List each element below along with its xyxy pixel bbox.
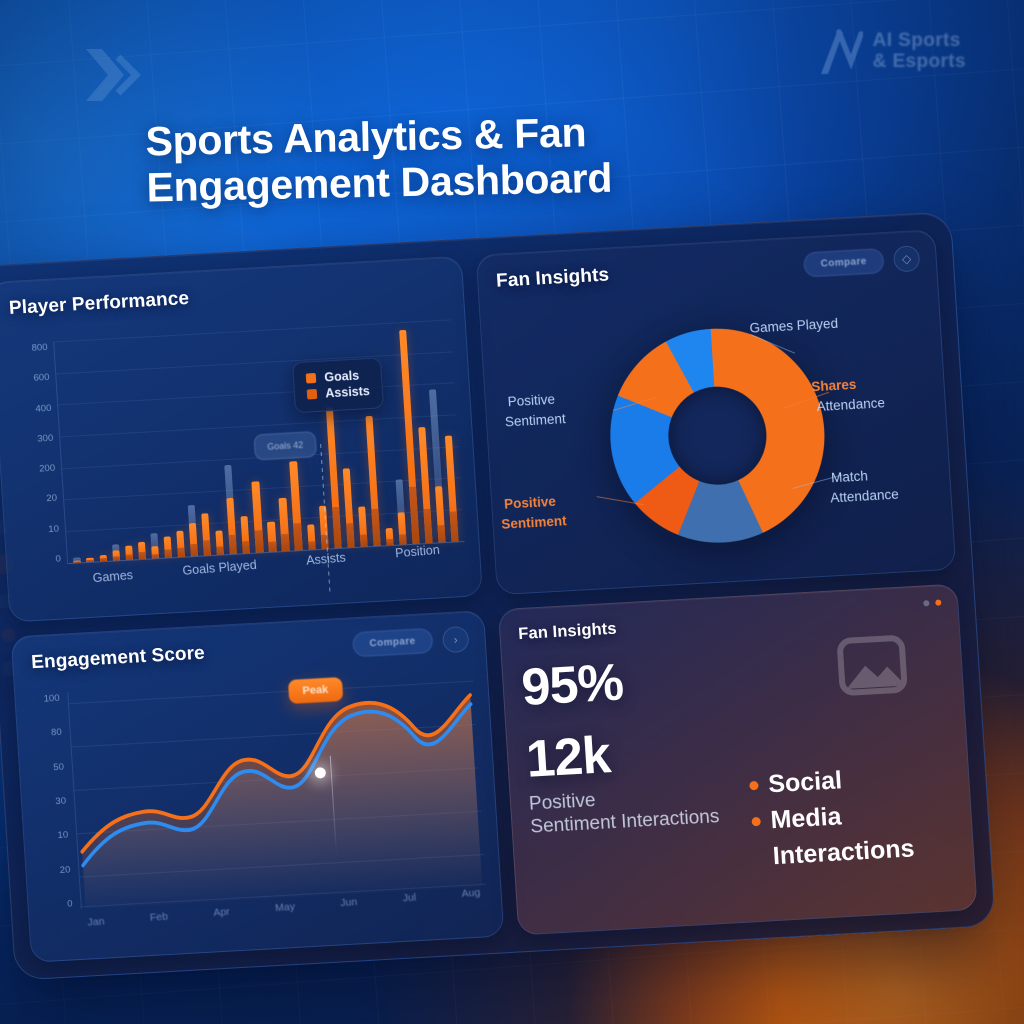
- goals-bar[interactable]: [176, 530, 185, 556]
- assists-bar: [138, 552, 146, 559]
- assists-bar: [346, 523, 355, 547]
- assists-bar: [399, 534, 407, 544]
- brand-name-line2: & Esports: [873, 52, 966, 73]
- brand-name-line1: AI Sports: [873, 31, 966, 52]
- chevron-right-icon[interactable]: ›: [442, 626, 470, 653]
- goals-bar[interactable]: [151, 546, 159, 558]
- y-tick: 800: [31, 342, 48, 354]
- kpi-card-actions: [923, 599, 941, 606]
- x-tick: Jul: [402, 891, 416, 904]
- y-tick: 10: [48, 523, 59, 535]
- bullet-label-social: Social: [767, 764, 843, 800]
- dashboard-panel: Player Performance 800 600 400 300 200 2…: [0, 211, 996, 980]
- assists-bar: [332, 507, 342, 548]
- line-chart-y-axis: 100 80 50 30 10 20 0: [27, 693, 73, 912]
- line-chart-svg: [68, 670, 486, 909]
- y-tick: 300: [37, 433, 54, 445]
- player-performance-chart: 800 600 400 300 200 20 10 0 Goals 42 Goa…: [7, 311, 471, 608]
- assists-bar: [203, 540, 211, 556]
- assists-bar: [190, 544, 198, 556]
- assists-bar: [371, 508, 381, 546]
- kpi-body: 95% 12k Positive Sentiment Interactions …: [520, 637, 960, 919]
- donut-ring[interactable]: [604, 323, 831, 549]
- donut-card-actions: Compare ◇: [803, 245, 921, 277]
- brand-logo: AI Sports & Esports: [817, 28, 966, 76]
- assists-bar: [99, 558, 106, 561]
- status-dot-muted: [923, 600, 929, 606]
- y-tick: 0: [55, 553, 61, 564]
- donut-label-sentiment-top: Sentiment: [505, 411, 567, 431]
- x-tick: May: [275, 901, 296, 914]
- goals-bar[interactable]: [241, 516, 251, 553]
- status-dots: [923, 599, 941, 606]
- x-tick: Jan: [87, 915, 105, 928]
- compare-button[interactable]: Compare: [352, 628, 434, 657]
- goals-bar[interactable]: [252, 482, 264, 553]
- assists-bar: [424, 509, 433, 543]
- donut-label-sentiment-bottom: Sentiment: [501, 513, 567, 533]
- card-title-player-performance: Player Performance: [8, 274, 445, 320]
- assists-bar: [125, 554, 133, 559]
- peak-data-point[interactable]: [314, 767, 326, 779]
- av-monogram-icon: [817, 28, 863, 76]
- goals-bar[interactable]: [227, 498, 238, 554]
- assists-bar: [229, 535, 237, 554]
- kpi-percent: 95%: [520, 650, 718, 715]
- assists-bar: [216, 546, 224, 554]
- watermark-glyph-icon: [78, 45, 158, 105]
- assists-bar: [438, 525, 446, 542]
- goals-bar[interactable]: [398, 512, 407, 544]
- goals-bar[interactable]: [358, 506, 368, 546]
- y-tick: 0: [67, 898, 73, 909]
- donut-label-games-played: Games Played: [749, 316, 838, 338]
- donut-label-positive-bottom: Positive: [504, 494, 557, 514]
- kpi-bullet-list: Social Media Interactions: [748, 760, 915, 873]
- image-placeholder-icon: [835, 633, 913, 705]
- x-tick-goals-played: Goals Played: [182, 558, 257, 578]
- y-tick: 80: [51, 727, 62, 739]
- donut-center-hole: [665, 384, 769, 487]
- x-tick-assists: Assists: [306, 550, 347, 567]
- y-tick: 10: [57, 830, 68, 842]
- x-tick: Jun: [340, 896, 358, 909]
- donut-label-positive-top: Positive: [507, 392, 555, 411]
- card-fan-insights-donut: Fan Insights Compare ◇ Games Played Shar…: [475, 229, 956, 595]
- legend-label-goals: Goals: [324, 369, 360, 385]
- bar-chart-y-axis: 800 600 400 300 200 20 10 0: [7, 342, 61, 567]
- x-tick: Feb: [149, 911, 168, 924]
- legend-swatch-assists-icon: [307, 389, 318, 400]
- y-tick: 30: [55, 795, 66, 807]
- legend-item-assists[interactable]: Assists: [307, 384, 370, 401]
- bullet-dot-icon: [751, 817, 761, 826]
- assists-bar: [242, 541, 250, 553]
- assists-bar: [360, 534, 368, 546]
- assists-bar: [151, 554, 158, 559]
- y-tick: 50: [53, 761, 64, 773]
- goals-bar[interactable]: [163, 536, 172, 557]
- y-tick: 400: [35, 402, 52, 414]
- page-title: Sports Analytics & Fan Engagement Dashbo…: [145, 106, 767, 212]
- donut-label-attendance: Attendance: [816, 395, 885, 416]
- assists-bar: [269, 542, 277, 552]
- assists-bar: [409, 487, 420, 544]
- brand-wordmark: AI Sports & Esports: [873, 31, 966, 72]
- legend-label-assists: Assists: [325, 384, 370, 400]
- legend-item-goals[interactable]: Goals: [306, 368, 369, 385]
- assists-bar: [308, 542, 316, 550]
- y-tick: 600: [33, 372, 50, 384]
- goals-bar[interactable]: [99, 555, 107, 561]
- list-item: Media: [751, 796, 913, 837]
- y-tick: 20: [46, 493, 57, 505]
- list-item: Social: [748, 760, 910, 801]
- x-tick: Aug: [461, 886, 481, 899]
- assists-bar: [386, 539, 394, 545]
- assists-bar: [177, 547, 185, 557]
- assists-bar: [450, 511, 459, 542]
- kpi-stats: 95% 12k Positive Sentiment Interactions: [520, 650, 731, 920]
- compare-button[interactable]: Compare: [803, 248, 885, 277]
- bar-chart-legend[interactable]: Goals Assists: [292, 357, 384, 413]
- bullet-label-interactions: Interactions: [753, 832, 915, 873]
- goals-bar[interactable]: [86, 557, 93, 561]
- donut-label-shares: Shares: [811, 377, 857, 396]
- assists-bar: [112, 556, 119, 560]
- goals-bar[interactable]: [290, 461, 303, 550]
- status-dot-active: [935, 599, 941, 605]
- goals-bar[interactable]: [307, 524, 316, 549]
- goals-bar[interactable]: [125, 545, 133, 559]
- bullet-dot-icon: [749, 781, 759, 790]
- y-tick: 100: [43, 693, 60, 705]
- goals-bar[interactable]: [342, 469, 354, 548]
- goals-bar[interactable]: [435, 486, 446, 543]
- kpi-highlights: Social Media Interactions: [715, 637, 960, 908]
- fan-insights-donut-chart: Games Played Shares Attendance Match Att…: [487, 275, 946, 586]
- x-tick: Apr: [213, 906, 230, 919]
- engagement-card-actions: Compare ›: [352, 626, 470, 658]
- card-fan-insights-kpi: Fan Insights 95% 12k Positive Sentiment …: [498, 583, 978, 935]
- goals-bar[interactable]: [201, 513, 211, 555]
- goals-bar[interactable]: [112, 550, 120, 561]
- y-tick: 20: [59, 864, 70, 876]
- assists-bar: [255, 530, 264, 553]
- assists-bar: [164, 550, 172, 558]
- y-tick: 200: [39, 463, 56, 475]
- goals-bar[interactable]: [267, 522, 276, 552]
- goals-bar[interactable]: [385, 528, 393, 545]
- bar-chart-tooltip: Goals 42: [253, 431, 317, 460]
- goals-bar[interactable]: [279, 498, 290, 551]
- line-chart-plot-area: [67, 670, 486, 909]
- assists-bar: [281, 534, 289, 551]
- goals-bar[interactable]: [215, 530, 224, 554]
- assists-bar: [294, 523, 303, 550]
- kpi-count: 12k: [525, 722, 723, 787]
- bullet-label-media: Media: [770, 800, 843, 836]
- peak-tooltip: Peak: [288, 677, 343, 704]
- donut-label-match-attendance: Attendance: [830, 487, 899, 508]
- goals-bar[interactable]: [189, 523, 198, 556]
- donut-label-match: Match: [831, 468, 869, 487]
- x-tick-position: Position: [395, 543, 441, 561]
- x-tick-games: Games: [92, 568, 133, 585]
- engagement-score-chart: 100 80 50 30 10 20 0: [27, 663, 493, 951]
- legend-swatch-goals-icon: [306, 373, 317, 384]
- card-engagement-score: Engagement Score Compare › 100 80 50 30 …: [11, 610, 505, 963]
- diamond-icon[interactable]: ◇: [893, 245, 921, 272]
- goals-bar[interactable]: [73, 560, 80, 563]
- card-player-performance: Player Performance 800 600 400 300 200 2…: [0, 256, 483, 623]
- goals-bar[interactable]: [138, 542, 146, 559]
- kpi-caption: Positive Sentiment Interactions: [528, 782, 726, 839]
